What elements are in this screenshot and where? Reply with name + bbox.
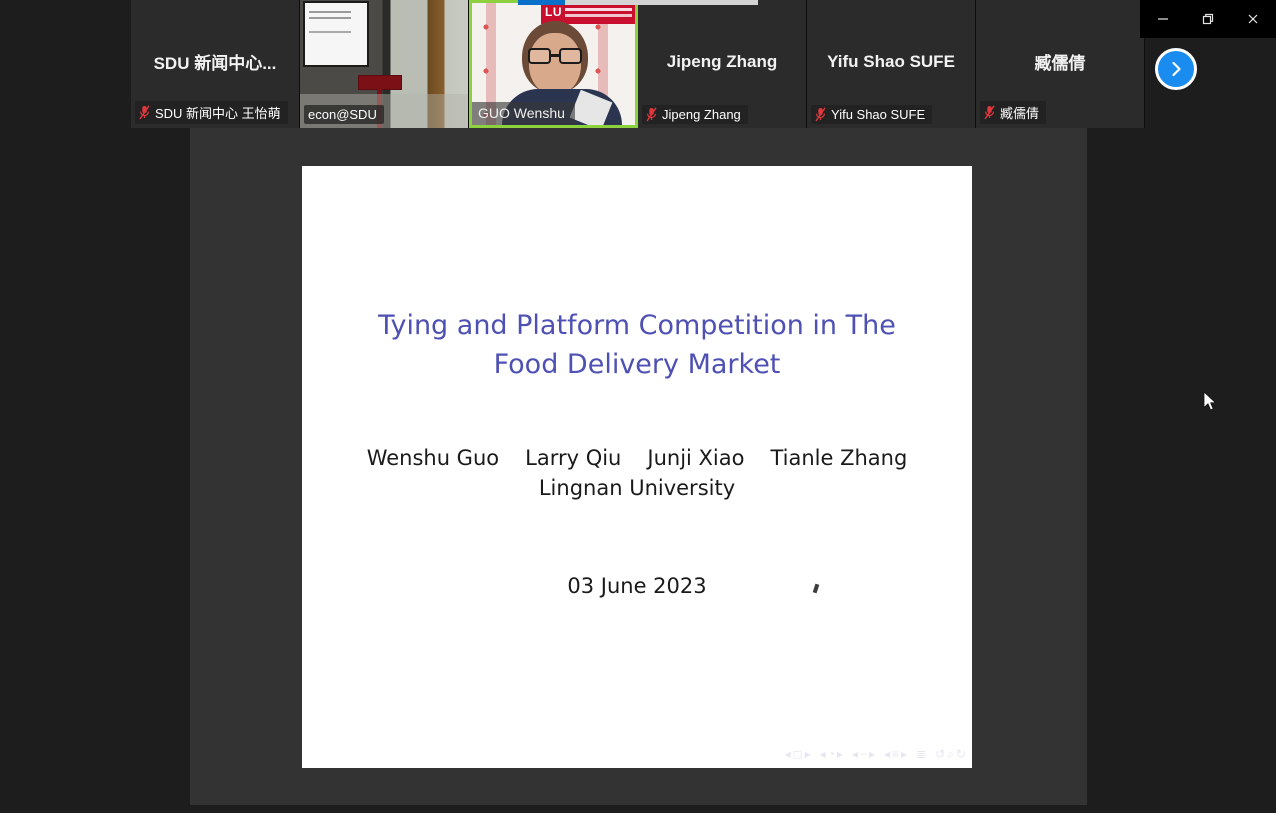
slide-authors: Wenshu GuoLarry QiuJunji XiaoTianle Zhan… [342, 446, 932, 500]
minimize-button[interactable] [1144, 4, 1182, 34]
author-name: Tianle Zhang [770, 446, 907, 470]
nav-prev-icon[interactable]: ◂ [820, 748, 826, 760]
restore-button[interactable] [1189, 4, 1227, 34]
participant-name-badge: Yifu Shao SUFE [811, 105, 932, 124]
participant-tile[interactable]: Yifu Shao SUFE Yifu Shao SUFE [807, 0, 976, 128]
participant-badge-label: econ@SDU [308, 107, 377, 122]
participant-name-badge: SDU 新闻中心 王怡萌 [135, 101, 288, 124]
eyeglasses [528, 48, 582, 64]
slide-title: Tying and Platform Competition in The Fo… [354, 306, 920, 384]
nav-prev-icon[interactable]: ◂ [785, 748, 791, 760]
nav-doc-group[interactable]: ≣ [916, 748, 926, 760]
participant-display-name: Jipeng Zhang [638, 52, 806, 72]
next-slide-button[interactable] [1155, 48, 1197, 90]
close-icon [1246, 12, 1260, 26]
banner-tagline [565, 8, 632, 11]
nav-section-group[interactable]: ◂ ≡ ▸ [884, 748, 907, 760]
microphone-muted-icon [815, 107, 826, 122]
lectern-sign [358, 75, 402, 90]
minimize-icon [1156, 12, 1170, 26]
nav-search-icon[interactable]: ⌕ [947, 748, 954, 760]
mouse-pointer-icon [1203, 391, 1219, 418]
nav-subsection-group[interactable]: ◂ − ▸ [852, 748, 875, 760]
chevron-right-icon [1166, 59, 1186, 79]
close-button[interactable] [1234, 4, 1272, 34]
participant-badge-label: GUO Wenshu [478, 105, 565, 121]
top-progress-bar[interactable] [518, 0, 758, 5]
window-titlebar [1140, 0, 1276, 38]
participant-display-name: SDU 新闻中心... [131, 49, 299, 74]
author-list: Wenshu GuoLarry QiuJunji XiaoTianle Zhan… [342, 446, 932, 470]
participant-name-badge: econ@SDU [304, 105, 384, 124]
nav-section-icon[interactable]: ≡ [892, 748, 899, 760]
top-progress-bar-fill [518, 0, 565, 5]
nav-prev-icon[interactable]: ◂ [884, 748, 890, 760]
participant-name-badge: 臧儒倩 [980, 101, 1046, 124]
microphone-muted-icon [984, 105, 995, 120]
meeting-window: SDU 新闻中心... SDU 新闻中心 王怡萌 [0, 0, 1276, 813]
nav-subsection-icon[interactable]: − [860, 748, 867, 760]
nav-prev-icon[interactable]: ◂ [852, 748, 858, 760]
participant-name-badge: Jipeng Zhang [642, 105, 748, 124]
participant-tile-active-speaker[interactable]: LU GUO Wenshu [469, 0, 638, 128]
participant-filmstrip: SDU 新闻中心... SDU 新闻中心 王怡萌 [131, 0, 1145, 128]
microphone-muted-icon [139, 105, 150, 120]
author-name: Wenshu Guo [367, 446, 499, 470]
nav-back-icon[interactable]: ↺ [935, 748, 945, 760]
participant-tile[interactable]: Jipeng Zhang Jipeng Zhang [638, 0, 807, 128]
participant-display-name: 臧儒倩 [976, 49, 1144, 74]
speaker-face [529, 33, 581, 95]
participant-display-name: Yifu Shao SUFE [807, 52, 975, 72]
participant-badge-label: 臧儒倩 [1000, 103, 1039, 122]
presentation-slide: Tying and Platform Competition in The Fo… [302, 166, 972, 768]
nav-forward-icon[interactable]: ↻ [956, 748, 966, 760]
slide-institute: Lingnan University [342, 476, 932, 500]
participant-name-badge: GUO Wenshu [472, 102, 575, 125]
beamer-navigation-symbols[interactable]: ◂ ◻ ▸ ◂ ◔ ▸ ◂ − ▸ ◂ ≡ ▸ [785, 748, 966, 760]
nav-slide-group[interactable]: ◂ ◻ ▸ [785, 748, 811, 760]
nav-document-icon[interactable]: ≣ [916, 748, 926, 760]
nav-frame-group[interactable]: ◂ ◔ ▸ [820, 748, 843, 760]
projector-screen [305, 3, 367, 65]
nav-slide-icon[interactable]: ◻ [793, 748, 803, 760]
nav-next-icon[interactable]: ▸ [837, 748, 843, 760]
lu-logo-text: LU [545, 5, 562, 19]
nav-frame-icon[interactable]: ◔ [828, 748, 835, 760]
participant-badge-label: Yifu Shao SUFE [831, 107, 925, 122]
participant-badge-label: SDU 新闻中心 王怡萌 [155, 103, 281, 122]
participant-badge-label: Jipeng Zhang [662, 107, 741, 122]
nav-next-icon[interactable]: ▸ [901, 748, 907, 760]
author-name: Junji Xiao [647, 446, 744, 470]
shared-screen-stage: Tying and Platform Competition in The Fo… [190, 128, 1087, 805]
participant-tile[interactable]: SDU 新闻中心... SDU 新闻中心 王怡萌 [131, 0, 300, 128]
nav-tools-group[interactable]: ↺ ⌕ ↻ [935, 748, 966, 760]
restore-icon [1201, 12, 1215, 26]
nav-next-icon[interactable]: ▸ [805, 748, 811, 760]
participant-tile[interactable]: 臧儒倩 臧儒倩 [976, 0, 1145, 128]
slide-date: 03 June 2023 [302, 574, 972, 598]
nav-next-icon[interactable]: ▸ [869, 748, 875, 760]
microphone-muted-icon [646, 107, 657, 122]
author-name: Larry Qiu [525, 446, 621, 470]
participant-tile[interactable]: econ@SDU [300, 0, 469, 128]
